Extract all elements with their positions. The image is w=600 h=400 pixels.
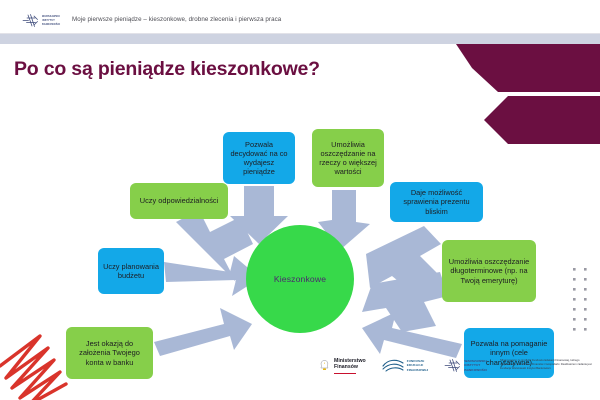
node-odpowiedzialnosc[interactable]: Uczy odpowiedzialności (130, 183, 228, 219)
fundusz-swirl-icon (382, 358, 404, 373)
node-decydowanie[interactable]: Pozwala decydować na co wydajesz pieniąd… (223, 132, 295, 184)
diagram-hub: Kieszonkowe (246, 225, 354, 333)
footer-logos: Ministerstwo Finansów FUNDUSZ (318, 358, 487, 374)
pocket-money-diagram: Kieszonkowe Uczy odpowiedzialności Pozwa… (0, 44, 600, 400)
hub-label: Kieszonkowe (274, 274, 326, 284)
mf-line-2: Finansów (334, 364, 366, 370)
wib-mark-icon (444, 358, 461, 373)
accent-band (0, 34, 600, 44)
node-dlugoterminowe[interactable]: Umożliwia oszczędzanie długoterminowe (n… (442, 240, 536, 302)
node-prezent[interactable]: Daje możliwość sprawienia prezentu blisk… (390, 182, 483, 222)
wib-logo-words: WARSZAWSKI INSTYTUT BANKOWOŚCI (42, 15, 60, 26)
arrow-konto (154, 308, 252, 356)
mf-red-rule (334, 373, 356, 375)
wib-logo-line-1: WARSZAWSKI (42, 15, 60, 18)
wib-logo-line-3: BANKOWOŚCI (42, 23, 60, 26)
funding-note: Sfinansowano ze środków Funduszu Edukacj… (500, 359, 596, 371)
node-oszczedzanie-rzeczy[interactable]: Umożliwia oszczędzanie na rzeczy o więks… (312, 129, 384, 187)
slide-viewer: WARSZAWSKI INSTYTUT BANKOWOŚCI Moje pier… (0, 0, 600, 400)
fep-line-3: FINANSOWEJ (407, 368, 429, 372)
slide-footer: Ministerstwo Finansów FUNDUSZ (0, 356, 600, 396)
fundusz-edukacji-text: FUNDUSZE EDUKACJI FINANSOWEJ (407, 359, 429, 371)
wib-footer-logo: WARSZAWSKI INSTYTUT BANKOWOŚCI (444, 358, 487, 373)
wib-mark-icon (22, 13, 39, 28)
wib-footer-line-3: BANKOWOŚCI (464, 368, 487, 372)
slide-canvas: Po co są pieniądze kieszonkowe? (0, 44, 600, 400)
ministerstwo-finansow-logo: Ministerstwo Finansów (318, 358, 366, 374)
polish-eagle-icon (318, 359, 331, 373)
node-budzet[interactable]: Uczy planowania budżetu (98, 248, 164, 294)
wib-logo: WARSZAWSKI INSTYTUT BANKOWOŚCI (22, 13, 60, 28)
viewer-header: WARSZAWSKI INSTYTUT BANKOWOŚCI Moje pier… (0, 0, 600, 34)
ministerstwo-finansow-text: Ministerstwo Finansów (334, 358, 366, 374)
lesson-title: Moje pierwsze pieniądze – kieszonkowe, d… (72, 16, 281, 23)
wib-footer-text: WARSZAWSKI INSTYTUT BANKOWOŚCI (464, 359, 487, 371)
wib-logo-line-2: INSTYTUT (42, 19, 60, 22)
fundusz-edukacji-finansowej-logo: FUNDUSZE EDUKACJI FINANSOWEJ (382, 358, 429, 373)
